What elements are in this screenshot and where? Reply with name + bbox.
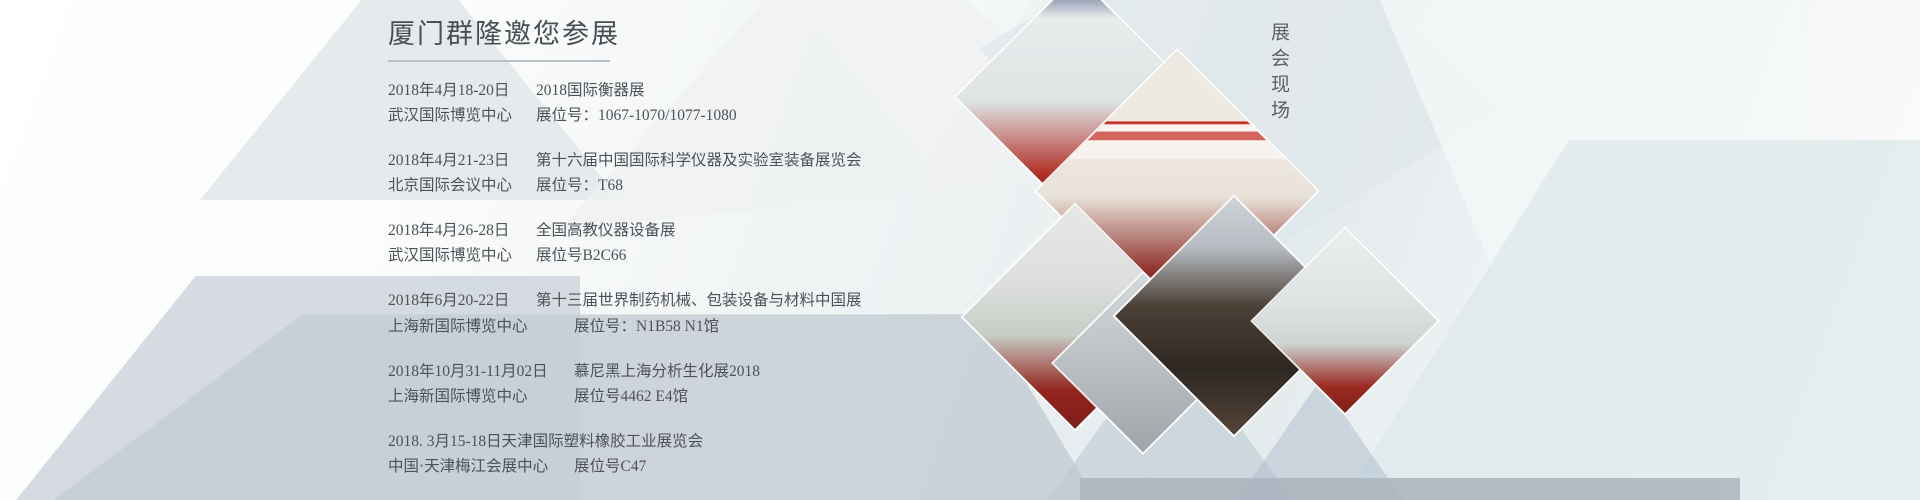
event-line-top: 2018年4月18-20日2018国际衡器展 (388, 78, 1028, 103)
event-name: 第十三届世界制药机械、包装设备与材料中国展 (514, 288, 862, 313)
event-name: 慕尼黑上海分析生化展2018 (552, 359, 760, 384)
event-venue: 北京国际会议中心 (388, 173, 514, 198)
title-underline (388, 60, 610, 62)
photo-gallery (1030, 0, 1450, 500)
event-line-top: 2018年4月21-23日第十六届中国国际科学仪器及实验室装备展览会 (388, 148, 1028, 173)
event-line-bottom: 上海新国际博览中心展位号：N1B58 N1馆 (388, 314, 1028, 339)
event-booth: 展位号：T68 (514, 173, 623, 198)
event-item: 2018. 3月15-18日天津国际塑料橡胶工业展览会 中国·天津梅江会展中心展… (388, 429, 1028, 479)
event-item: 2018年4月21-23日第十六届中国国际科学仪器及实验室装备展览会 北京国际会… (388, 148, 1028, 198)
event-line-top: 2018. 3月15-18日天津国际塑料橡胶工业展览会 (388, 429, 1028, 454)
event-date: 2018年4月26-28日 (388, 218, 514, 243)
event-booth: 展位号：N1B58 N1馆 (552, 314, 719, 339)
event-date: 2018. 3月15-18日天津国际塑料橡胶工业展览会 (388, 429, 703, 454)
event-booth: 展位号B2C66 (514, 243, 626, 268)
event-line-bottom: 上海新国际博览中心展位号4462 E4馆 (388, 384, 1028, 409)
event-name: 全国高教仪器设备展 (514, 218, 676, 243)
event-booth: 展位号：1067-1070/1077-1080 (514, 103, 737, 128)
event-line-bottom: 武汉国际博览中心展位号B2C66 (388, 243, 1028, 268)
event-booth: 展位号4462 E4馆 (552, 384, 688, 409)
gallery-label: 展会现场 (1265, 22, 1292, 126)
event-name: 第十六届中国国际科学仪器及实验室装备展览会 (514, 148, 862, 173)
event-date: 2018年4月21-23日 (388, 148, 514, 173)
event-item: 2018年4月26-28日全国高教仪器设备展 武汉国际博览中心展位号B2C66 (388, 218, 1028, 268)
event-line-top: 2018年6月20-22日第十三届世界制药机械、包装设备与材料中国展 (388, 288, 1028, 313)
event-line-bottom: 武汉国际博览中心展位号：1067-1070/1077-1080 (388, 103, 1028, 128)
event-booth: 展位号C47 (552, 454, 646, 479)
event-venue: 上海新国际博览中心 (388, 314, 552, 339)
event-date: 2018年10月31-11月02日 (388, 359, 552, 384)
event-venue: 中国·天津梅江会展中心 (388, 454, 552, 479)
page-title: 厦门群隆邀您参展 (388, 18, 1028, 52)
event-list: 2018年4月18-20日2018国际衡器展 武汉国际博览中心展位号：1067-… (388, 78, 1028, 479)
event-item: 2018年6月20-22日第十三届世界制药机械、包装设备与材料中国展 上海新国际… (388, 288, 1028, 338)
content-column: 厦门群隆邀您参展 2018年4月18-20日2018国际衡器展 武汉国际博览中心… (388, 18, 1028, 479)
event-venue: 武汉国际博览中心 (388, 103, 514, 128)
event-line-top: 2018年4月26-28日全国高教仪器设备展 (388, 218, 1028, 243)
event-line-bottom: 中国·天津梅江会展中心展位号C47 (388, 454, 1028, 479)
event-line-bottom: 北京国际会议中心展位号：T68 (388, 173, 1028, 198)
event-venue: 武汉国际博览中心 (388, 243, 514, 268)
event-venue: 上海新国际博览中心 (388, 384, 552, 409)
exhibition-banner: 厦门群隆邀您参展 2018年4月18-20日2018国际衡器展 武汉国际博览中心… (0, 0, 1920, 500)
event-line-top: 2018年10月31-11月02日慕尼黑上海分析生化展2018 (388, 359, 1028, 384)
event-name: 2018国际衡器展 (514, 78, 645, 103)
event-date: 2018年4月18-20日 (388, 78, 514, 103)
event-item: 2018年10月31-11月02日慕尼黑上海分析生化展2018 上海新国际博览中… (388, 359, 1028, 409)
event-item: 2018年4月18-20日2018国际衡器展 武汉国际博览中心展位号：1067-… (388, 78, 1028, 128)
event-date: 2018年6月20-22日 (388, 288, 514, 313)
